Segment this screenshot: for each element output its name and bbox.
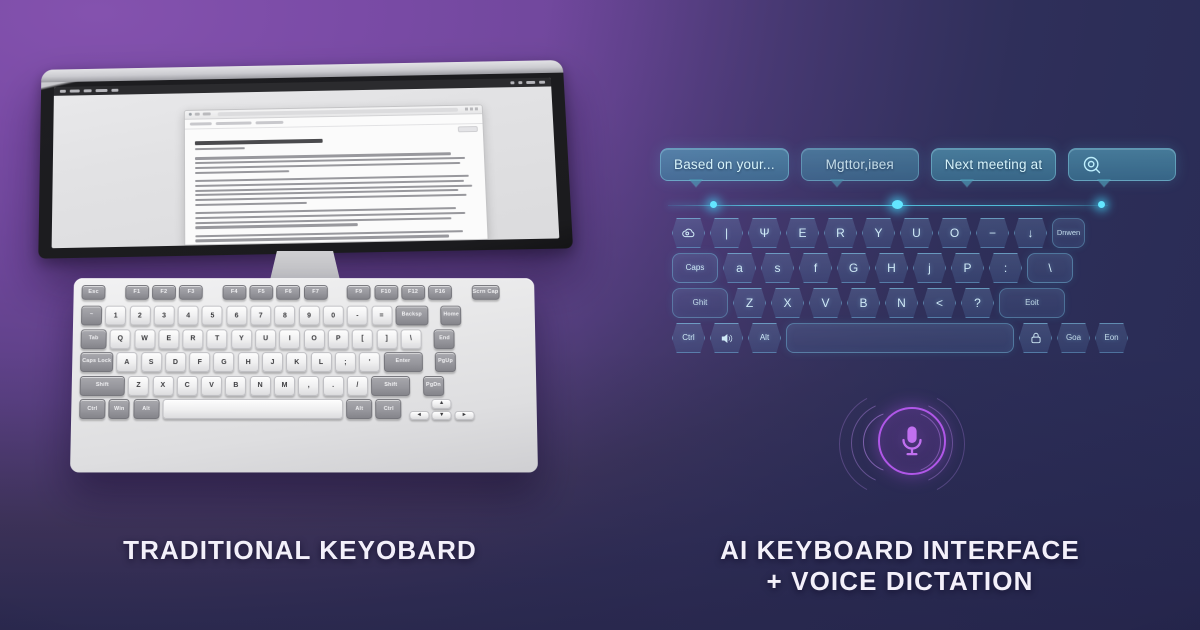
vk-key-shift-right[interactable]: Eoit	[999, 288, 1065, 318]
menubar-item	[111, 89, 118, 92]
document-heading	[194, 139, 322, 145]
key-page-up[interactable]: PgUp	[435, 352, 456, 372]
window-icon	[188, 113, 191, 116]
key-ctrl-right[interactable]: Ctrl	[376, 399, 402, 419]
key-y[interactable]: Y	[231, 329, 252, 349]
key-b[interactable]: B	[225, 376, 246, 396]
vk-key-r[interactable]: R	[824, 218, 857, 248]
key-arrow-right[interactable]: ►	[454, 411, 474, 421]
ai-suggestion-chips[interactable]: Based on your... Mgttor,iвея Next meetin…	[660, 148, 1176, 181]
document-paragraph	[195, 175, 476, 206]
menubar-apple-icon	[60, 90, 66, 93]
key-f10[interactable]: F10	[374, 285, 398, 300]
key-w[interactable]: W	[134, 329, 155, 349]
window-maximize-icon[interactable]	[470, 108, 473, 111]
menubar-status-icon	[539, 81, 545, 84]
key-v[interactable]: V	[201, 376, 222, 396]
vk-key-caps-lock[interactable]: Caps	[672, 253, 718, 283]
key-arrow-up[interactable]: ▲	[432, 399, 452, 409]
cloud-glyph-icon	[681, 227, 696, 240]
vk-key-ctrl[interactable]: Ctrl	[672, 323, 705, 353]
connector-node	[1098, 201, 1105, 208]
microphone-icon	[897, 424, 927, 458]
vk-key-z[interactable]: Z	[733, 288, 766, 318]
key-f16[interactable]: F16	[428, 285, 452, 300]
document-paragraph	[195, 229, 477, 245]
key-comma[interactable]: ,	[298, 376, 319, 396]
key-4[interactable]: 4	[178, 306, 199, 326]
lock-icon	[1029, 331, 1043, 345]
row-gap	[431, 306, 437, 326]
key-f2[interactable]: F2	[152, 285, 176, 300]
key-space[interactable]	[162, 399, 343, 419]
key-i[interactable]: I	[279, 329, 300, 349]
key-5[interactable]: 5	[202, 306, 223, 326]
vk-key-backslash[interactable]: \	[1027, 253, 1073, 283]
key-tilde[interactable]: ~	[81, 306, 102, 326]
vk-key-f[interactable]: f	[799, 253, 832, 283]
key-a[interactable]: A	[116, 352, 137, 372]
keyboard-bottom-row[interactable]: Ctrl Win Alt Alt Ctrl ▲ ◄ ▼ ►	[79, 399, 529, 420]
key-p[interactable]: P	[328, 329, 349, 349]
microphone-button[interactable]	[878, 407, 946, 475]
caption-traditional: TRADITIONAL KEYOBARD	[60, 535, 540, 566]
key-7[interactable]: 7	[250, 306, 271, 326]
window-back-icon[interactable]	[194, 113, 199, 116]
window-close-icon[interactable]	[475, 108, 478, 111]
menubar-status-icon	[518, 81, 522, 84]
row-gap	[414, 376, 420, 396]
toolbar-item[interactable]	[215, 121, 251, 125]
toolbar-breadcrumb[interactable]	[189, 122, 211, 125]
arrow-top-row: ▲	[409, 399, 474, 409]
key-f5[interactable]: F5	[249, 285, 273, 300]
vk-key-s[interactable]: s	[761, 253, 794, 283]
speaker-icon	[719, 332, 734, 345]
key-r[interactable]: R	[182, 329, 203, 349]
vk-key-y[interactable]: Y	[862, 218, 895, 248]
caption-ai: AI KEYBOARD INTERFACE + VOICE DICTATION	[660, 535, 1140, 596]
toolbar-item[interactable]	[255, 121, 283, 124]
key-d[interactable]: D	[165, 352, 186, 372]
key-e[interactable]: E	[158, 329, 179, 349]
window-tab-label[interactable]	[202, 113, 210, 116]
poster-canvas: Esc F1 F2 F3 F4 F5 F6 F7 F9 F10 F12 F16 …	[0, 0, 1200, 630]
vk-key-e[interactable]: E	[786, 218, 819, 248]
vk-row-4[interactable]: Ctrl Alt	[672, 323, 1134, 353]
row-gap	[455, 285, 468, 300]
key-f7[interactable]: F7	[304, 285, 328, 300]
key-m[interactable]: M	[274, 376, 295, 396]
vk-key-a[interactable]: a	[723, 253, 756, 283]
key-quote[interactable]: '	[359, 352, 380, 372]
key-f[interactable]: F	[189, 352, 210, 372]
document-subheading	[194, 147, 244, 150]
vk-row-2[interactable]: Caps a s f G H j P : \	[672, 253, 1134, 283]
key-slash[interactable]: /	[347, 376, 368, 396]
keyboard-qwerty-row[interactable]: Tab Q W E R T Y U I O P [ ] \ End	[81, 329, 528, 349]
menubar-item	[96, 89, 108, 92]
document-body	[184, 124, 487, 246]
menubar-item	[84, 89, 92, 92]
connector-node	[710, 201, 717, 208]
vk-key-speaker[interactable]	[710, 323, 743, 353]
vk-key-n[interactable]: N	[885, 288, 918, 318]
keyboard-function-row[interactable]: Esc F1 F2 F3 F4 F5 F6 F7 F9 F10 F12 F16 …	[81, 285, 526, 300]
vk-key-v[interactable]: V	[809, 288, 842, 318]
key-f3[interactable]: F3	[179, 285, 203, 300]
ai-virtual-keyboard[interactable]: | Ψ E R Y U O − ↓ Dnwen Caps a s f G H j…	[672, 218, 1134, 358]
key-6[interactable]: 6	[226, 306, 247, 326]
menubar-status-icon	[510, 81, 514, 84]
row-gap	[426, 352, 432, 372]
key-8[interactable]: 8	[275, 306, 296, 326]
key-f1[interactable]: F1	[125, 285, 149, 300]
vk-key-pipe[interactable]: |	[710, 218, 743, 248]
key-c[interactable]: C	[177, 376, 198, 396]
row-gap	[425, 329, 431, 349]
key-f12[interactable]: F12	[401, 285, 425, 300]
vk-key-glyph-cloud[interactable]	[672, 218, 705, 248]
key-o[interactable]: O	[304, 329, 325, 349]
vk-key-colon[interactable]: :	[989, 253, 1022, 283]
vk-key-down-arrow[interactable]: ↓	[1014, 218, 1047, 248]
key-caps-lock[interactable]: Caps Lock	[80, 352, 113, 372]
key-0[interactable]: 0	[323, 306, 344, 326]
key-win[interactable]: Win	[109, 399, 130, 419]
vk-key-goa[interactable]: Goa	[1057, 323, 1090, 353]
caption-ai-line1: AI KEYBOARD INTERFACE	[660, 535, 1140, 566]
vk-key-h[interactable]: H	[875, 253, 908, 283]
suggestion-chip-next-meeting[interactable]: Next meeting at	[931, 148, 1057, 181]
key-minus[interactable]: -	[347, 306, 368, 326]
vk-key-alt[interactable]: Alt	[748, 323, 781, 353]
vk-key-p[interactable]: P	[951, 253, 984, 283]
connector-beam	[668, 205, 1108, 207]
key-g[interactable]: G	[214, 352, 235, 372]
menubar-item	[70, 89, 80, 92]
key-l[interactable]: L	[311, 352, 332, 372]
vk-key-question[interactable]: ?	[961, 288, 994, 318]
window-controls[interactable]	[465, 108, 478, 111]
key-u[interactable]: U	[255, 329, 276, 349]
ai-connector-line	[668, 202, 1108, 208]
monitor-screen	[52, 78, 560, 249]
key-enter[interactable]: Enter	[383, 352, 422, 372]
vk-key-j[interactable]: j	[913, 253, 946, 283]
row-gap	[206, 285, 219, 300]
keyboard-shift-row[interactable]: Shift Z X C V B N M , . / Shift PgDn	[80, 376, 529, 396]
key-q[interactable]: Q	[110, 329, 131, 349]
key-x[interactable]: X	[152, 376, 173, 396]
vk-key-shift-left[interactable]: Ghit	[672, 288, 728, 318]
vk-key-backspace[interactable]: Dnwen	[1052, 218, 1085, 248]
vk-key-x[interactable]: X	[771, 288, 804, 318]
key-period[interactable]: .	[323, 376, 344, 396]
key-screen-capture[interactable]: Scrn Cap	[471, 285, 499, 300]
document-paragraph	[195, 207, 477, 229]
key-s[interactable]: S	[141, 352, 162, 372]
keyboard-home-row[interactable]: Caps Lock A S D F G H J K L ; ' Enter Pg…	[80, 352, 528, 372]
key-n[interactable]: N	[250, 376, 271, 396]
key-tab[interactable]: Tab	[81, 329, 107, 349]
traditional-keyboard[interactable]: Esc F1 F2 F3 F4 F5 F6 F7 F9 F10 F12 F16 …	[70, 278, 538, 472]
caption-ai-line2: + VOICE DICTATION	[660, 566, 1140, 597]
key-z[interactable]: Z	[128, 376, 149, 396]
key-backslash[interactable]: \	[400, 329, 421, 349]
key-3[interactable]: 3	[154, 306, 175, 326]
row-gap	[109, 285, 122, 300]
document-share-button[interactable]	[457, 126, 477, 132]
suggestion-chip-search[interactable]	[1068, 148, 1176, 181]
search-icon	[1082, 155, 1102, 175]
monitor-bezel	[38, 60, 573, 259]
keyboard-number-row[interactable]: ~ 1 2 3 4 5 6 7 8 9 0 - = Backsp Home	[81, 306, 527, 326]
key-alt-right[interactable]: Alt	[346, 399, 372, 419]
key-arrow-down[interactable]: ▼	[432, 411, 452, 421]
key-equals[interactable]: =	[371, 306, 392, 326]
vk-key-o[interactable]: O	[938, 218, 971, 248]
vk-key-space[interactable]	[786, 323, 1014, 353]
key-h[interactable]: H	[238, 352, 259, 372]
key-backspace[interactable]: Backsp	[395, 306, 428, 326]
key-f4[interactable]: F4	[222, 285, 246, 300]
key-end[interactable]: End	[434, 329, 455, 349]
key-k[interactable]: K	[286, 352, 307, 372]
key-f6[interactable]: F6	[277, 285, 301, 300]
vk-key-g[interactable]: G	[837, 253, 870, 283]
menubar-clock	[526, 81, 535, 84]
vk-key-b[interactable]: B	[847, 288, 880, 318]
document-paragraph	[194, 152, 474, 174]
voice-dictation-indicator[interactable]	[843, 392, 961, 492]
arrow-key-cluster[interactable]: ▲ ◄ ▼ ►	[409, 399, 474, 420]
connector-node-active	[892, 200, 903, 209]
key-bracket-right[interactable]: ]	[376, 329, 397, 349]
key-shift-right[interactable]: Shift	[371, 376, 410, 396]
menu-bar-right-items	[510, 81, 545, 85]
key-shift-left[interactable]: Shift	[80, 376, 125, 396]
key-f9[interactable]: F9	[347, 285, 371, 300]
key-9[interactable]: 9	[299, 306, 320, 326]
key-2[interactable]: 2	[129, 306, 150, 326]
suggestion-chip-secondary[interactable]: Mgttor,iвея	[801, 148, 919, 181]
vk-key-psi[interactable]: Ψ	[748, 218, 781, 248]
vk-row-1[interactable]: | Ψ E R Y U O − ↓ Dnwen	[672, 218, 1134, 248]
key-alt-left[interactable]: Alt	[133, 399, 159, 419]
vk-row-3[interactable]: Ghit Z X V B N < ? Eoit	[672, 288, 1134, 318]
suggestion-chip-based-on-your[interactable]: Based on your...	[660, 148, 789, 181]
vk-key-minus[interactable]: −	[976, 218, 1009, 248]
vk-key-eon[interactable]: Eon	[1095, 323, 1128, 353]
vk-key-u[interactable]: U	[900, 218, 933, 248]
key-t[interactable]: T	[207, 329, 228, 349]
monitor-illustration	[34, 55, 574, 285]
document-editor-window[interactable]	[183, 104, 488, 245]
key-ctrl-left[interactable]: Ctrl	[79, 399, 105, 419]
vk-key-lock[interactable]	[1019, 323, 1052, 353]
key-bracket-left[interactable]: [	[352, 329, 373, 349]
key-home[interactable]: Home	[441, 306, 462, 326]
key-arrow-left[interactable]: ◄	[409, 411, 429, 421]
menu-bar-left-items	[60, 89, 119, 93]
vk-key-less-than[interactable]: <	[923, 288, 956, 318]
window-minimize-icon[interactable]	[465, 108, 468, 111]
key-page-down[interactable]: PgDn	[423, 376, 444, 396]
key-1[interactable]: 1	[105, 306, 126, 326]
row-gap	[331, 285, 344, 300]
key-esc[interactable]: Esc	[81, 285, 105, 300]
arrow-bottom-row: ◄ ▼ ►	[409, 411, 474, 421]
key-semicolon[interactable]: ;	[335, 352, 356, 372]
key-j[interactable]: J	[262, 352, 283, 372]
